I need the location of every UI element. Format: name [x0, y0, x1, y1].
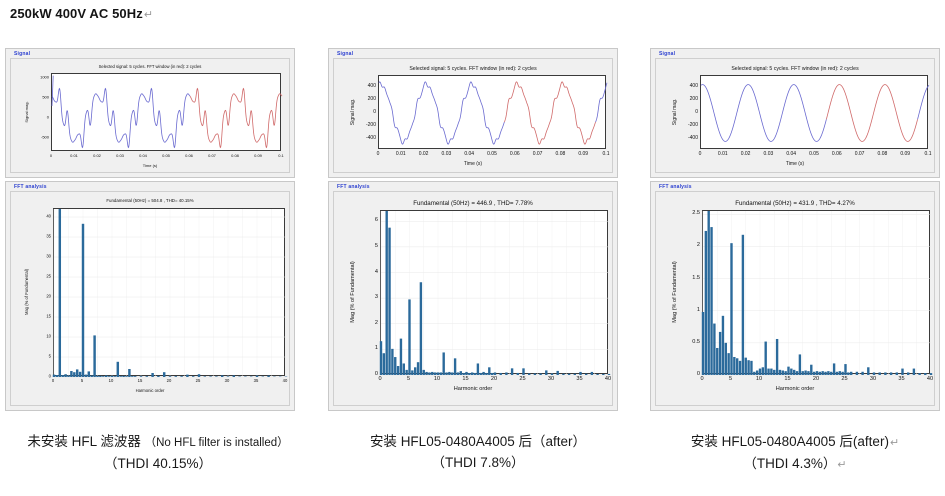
x-tick-label: 0.01	[396, 151, 406, 157]
fft-bars-0	[54, 209, 286, 377]
y-tick-label: 3	[348, 294, 378, 300]
y-tick-label: 0	[21, 374, 51, 379]
fft-bars-1	[381, 211, 609, 375]
captions-row: 未安装 HFL 滤波器 （No HFL filter is installed）…	[0, 432, 945, 496]
y-tick-label: 15	[21, 314, 51, 319]
signal-xlabel-1: Time (s)	[334, 161, 612, 167]
y-tick-label: 6	[348, 217, 378, 223]
caption-thdi-0: （THDI 40.15%）	[2, 453, 314, 475]
caption-no-filter: 未安装 HFL 滤波器 （No HFL filter is installed）…	[2, 432, 314, 475]
fft-panel-label-2: FFT analysis	[657, 184, 694, 190]
y-tick-label: 25	[21, 274, 51, 279]
y-tick-label: -200	[668, 122, 698, 128]
x-tick-label: 15	[138, 378, 143, 383]
caption-line-1-2: 安装 HFL05-0480A4005 后(after)↵	[645, 432, 945, 453]
x-tick-label: 0.04	[464, 151, 474, 157]
fft-title-1: Fundamental (50Hz) = 446.9 , THD= 7.78%	[334, 200, 612, 207]
y-tick-label: 0.5	[670, 339, 700, 345]
x-tick-label: 20	[491, 376, 497, 382]
caption-line-1-0: 未安装 HFL 滤波器 （No HFL filter is installed）	[2, 432, 314, 453]
fft-axes-1	[380, 210, 608, 374]
x-tick-label: 15	[462, 376, 468, 382]
x-tick-label: 25	[196, 378, 201, 383]
x-tick-label: 0.05	[487, 151, 497, 157]
x-tick-label: 0	[52, 378, 54, 383]
signal-xlabel-2: Time (s)	[656, 161, 934, 167]
y-tick-label: 0	[19, 115, 49, 120]
x-tick-label: 5	[407, 376, 410, 382]
y-tick-label: 400	[346, 83, 376, 89]
signal-title-2: Selected signal: 5 cycles. FFT window (i…	[656, 66, 934, 72]
x-tick-label: 0.03	[764, 151, 774, 157]
x-tick-label: 30	[225, 378, 230, 383]
fft-xlabel-1: Harmonic order	[334, 386, 612, 392]
signal-panel-0: Signal Selected signal: 5 cycles. FFT wi…	[5, 48, 295, 178]
x-tick-label: 40	[283, 378, 288, 383]
signal-waveform-2	[701, 76, 929, 150]
x-tick-label: 20	[167, 378, 172, 383]
y-tick-label: 0	[670, 371, 700, 377]
signal-title-0: Selected signal: 5 cycles. FFT window (i…	[11, 64, 289, 69]
y-tick-label: 10	[21, 334, 51, 339]
x-tick-label: 0.07	[208, 153, 216, 158]
y-tick-label: 500	[19, 95, 49, 100]
x-tick-label: 0.1	[603, 151, 610, 157]
y-tick-label: 0	[346, 109, 376, 115]
x-tick-label: 0.03	[442, 151, 452, 157]
x-tick-label: 40	[605, 376, 611, 382]
signal-waveform-1	[379, 76, 607, 150]
signal-xlabel-0: Time (s)	[11, 163, 289, 168]
y-tick-label: -200	[346, 122, 376, 128]
page-root: 250kW 400V AC 50Hz↵ Signal Selected sign…	[0, 0, 945, 496]
x-tick-label: 0	[700, 376, 703, 382]
y-tick-label: 0	[668, 109, 698, 115]
fft-panel-inner-0: Fundamental (50Hz) = 504.8 , THD= 40.15%…	[10, 191, 290, 406]
x-tick-label: 0.07	[855, 151, 865, 157]
x-tick-label: 0	[377, 151, 380, 157]
caption-cn-0: 未安装 HFL 滤波器	[27, 434, 141, 449]
y-tick-label: 2	[348, 320, 378, 326]
y-tick-label: 1000	[19, 75, 49, 80]
x-tick-label: 0.06	[832, 151, 842, 157]
x-tick-label: 0.08	[878, 151, 888, 157]
x-tick-label: 0.06	[510, 151, 520, 157]
y-tick-label: 5	[348, 243, 378, 249]
fft-xlabel-0: Harmonic order	[11, 388, 289, 393]
x-tick-label: 0.1	[278, 153, 284, 158]
y-tick-label: 30	[21, 254, 51, 259]
signal-panel-1: Signal Selected signal: 5 cycles. FFT wi…	[328, 48, 618, 178]
fft-xlabel-2: Harmonic order	[656, 386, 934, 392]
caption-pilcrow-2: ↵	[890, 437, 899, 449]
y-tick-label: 35	[21, 234, 51, 239]
signal-panel-inner-1: Selected signal: 5 cycles. FFT window (i…	[333, 58, 613, 173]
x-tick-label: 0	[50, 153, 52, 158]
fft-axes-2	[702, 210, 930, 374]
y-tick-label: 4	[348, 269, 378, 275]
signal-panel-label-2: Signal	[657, 51, 677, 57]
x-tick-label: 0.08	[231, 153, 239, 158]
signal-panel-label-1: Signal	[335, 51, 355, 57]
y-tick-label: 5	[21, 354, 51, 359]
signal-waveform-0	[52, 74, 282, 152]
y-tick-label: 1	[348, 345, 378, 351]
x-tick-label: 10	[756, 376, 762, 382]
column-hfl-7-78: Signal Selected signal: 5 cycles. FFT wi…	[328, 48, 628, 411]
x-tick-label: 20	[813, 376, 819, 382]
caption-thdi-text-2: （THDI 4.3%）	[743, 456, 836, 471]
y-tick-label: 1	[670, 307, 700, 313]
y-tick-label: -400	[346, 135, 376, 141]
x-tick-label: 0.07	[533, 151, 543, 157]
x-tick-label: 0.02	[93, 153, 101, 158]
page-title-text: 250kW 400V AC 50Hz	[10, 6, 143, 21]
fft-panel-1: FFT analysis Fundamental (50Hz) = 446.9 …	[328, 181, 618, 411]
x-tick-label: 0.04	[786, 151, 796, 157]
x-tick-label: 0.02	[741, 151, 751, 157]
x-tick-label: 0.09	[254, 153, 262, 158]
x-tick-label: 0.04	[139, 153, 147, 158]
column-no-filter: Signal Selected signal: 5 cycles. FFT wi…	[5, 48, 305, 411]
x-tick-label: 0.01	[718, 151, 728, 157]
x-tick-label: 10	[434, 376, 440, 382]
y-tick-label: 20	[21, 294, 51, 299]
y-tick-label: 2.5	[670, 210, 700, 216]
caption-en-0: （No HFL filter is installed）	[145, 437, 289, 449]
x-tick-label: 5	[729, 376, 732, 382]
caption-line-1-1: 安装 HFL05-0480A4005 后（after）	[322, 432, 634, 452]
caption-cn-2: 安装 HFL05-0480A4005 后(after)	[691, 434, 889, 449]
signal-panel-2: Signal Selected signal: 5 cycles. FFT wi…	[650, 48, 940, 178]
fft-panel-label-1: FFT analysis	[335, 184, 372, 190]
y-tick-label: 40	[21, 214, 51, 219]
column-hfl-4-27: Signal Selected signal: 5 cycles. FFT wi…	[650, 48, 945, 411]
signal-title-1: Selected signal: 5 cycles. FFT window (i…	[334, 66, 612, 72]
signal-axes-2	[700, 75, 928, 149]
fft-panel-label-0: FFT analysis	[12, 184, 49, 190]
x-tick-label: 30	[870, 376, 876, 382]
x-tick-label: 10	[109, 378, 114, 383]
fft-panel-0: FFT analysis Fundamental (50Hz) = 504.8 …	[5, 181, 295, 411]
caption-cn-1: 安装 HFL05-0480A4005 后（after）	[370, 434, 586, 449]
x-tick-label: 30	[548, 376, 554, 382]
fft-bars-2	[703, 211, 931, 375]
x-tick-label: 0.09	[900, 151, 910, 157]
y-tick-label: -500	[19, 135, 49, 140]
y-tick-label: 1.5	[670, 275, 700, 281]
panel-columns: Signal Selected signal: 5 cycles. FFT wi…	[0, 48, 945, 496]
y-tick-label: 2	[670, 242, 700, 248]
signal-axes-0	[51, 73, 281, 151]
fft-title-2: Fundamental (50Hz) = 431.9 , THD= 4.27%	[656, 200, 934, 207]
x-tick-label: 0.1	[925, 151, 932, 157]
page-title: 250kW 400V AC 50Hz↵	[10, 6, 153, 21]
fft-panel-2: FFT analysis Fundamental (50Hz) = 431.9 …	[650, 181, 940, 411]
y-tick-label: 200	[668, 96, 698, 102]
x-tick-label: 0.03	[116, 153, 124, 158]
caption-thdi-2: （THDI 4.3%）↵	[645, 453, 945, 476]
pilcrow-mark: ↵	[144, 9, 153, 21]
x-tick-label: 5	[81, 378, 83, 383]
x-tick-label: 0.02	[419, 151, 429, 157]
x-tick-label: 0.09	[578, 151, 588, 157]
x-tick-label: 0.01	[70, 153, 78, 158]
x-tick-label: 0.05	[809, 151, 819, 157]
x-tick-label: 0	[699, 151, 702, 157]
caption-hfl-4-27: 安装 HFL05-0480A4005 后(after)↵ （THDI 4.3%）…	[645, 432, 945, 476]
signal-axes-1	[378, 75, 606, 149]
x-tick-label: 40	[927, 376, 933, 382]
fft-panel-inner-2: Fundamental (50Hz) = 431.9 , THD= 4.27% …	[655, 191, 935, 406]
y-tick-label: -400	[668, 135, 698, 141]
y-tick-label: 200	[346, 96, 376, 102]
caption-thdi-1: （THDI 7.8%）	[322, 452, 634, 474]
x-tick-label: 25	[519, 376, 525, 382]
fft-axes-0	[53, 208, 285, 376]
fft-panel-inner-1: Fundamental (50Hz) = 446.9 , THD= 7.78% …	[333, 191, 613, 406]
signal-panel-inner-2: Selected signal: 5 cycles. FFT window (i…	[655, 58, 935, 173]
fft-ylabel-2: Mag (% of Fundamental)	[672, 261, 678, 323]
y-tick-label: 400	[668, 83, 698, 89]
signal-panel-label-0: Signal	[12, 51, 32, 57]
caption-pilcrow-2b: ↵	[837, 459, 846, 471]
fft-title-0: Fundamental (50Hz) = 504.8 , THD= 40.15%	[11, 198, 289, 203]
x-tick-label: 0.05	[162, 153, 170, 158]
x-tick-label: 0.06	[185, 153, 193, 158]
y-tick-label: 0	[348, 371, 378, 377]
x-tick-label: 35	[254, 378, 259, 383]
x-tick-label: 15	[784, 376, 790, 382]
caption-hfl-7-78: 安装 HFL05-0480A4005 后（after） （THDI 7.8%）	[322, 432, 634, 474]
x-tick-label: 0.08	[556, 151, 566, 157]
x-tick-label: 0	[378, 376, 381, 382]
x-tick-label: 35	[576, 376, 582, 382]
x-tick-label: 25	[841, 376, 847, 382]
signal-panel-inner-0: Selected signal: 5 cycles. FFT window (i…	[10, 58, 290, 173]
x-tick-label: 35	[898, 376, 904, 382]
